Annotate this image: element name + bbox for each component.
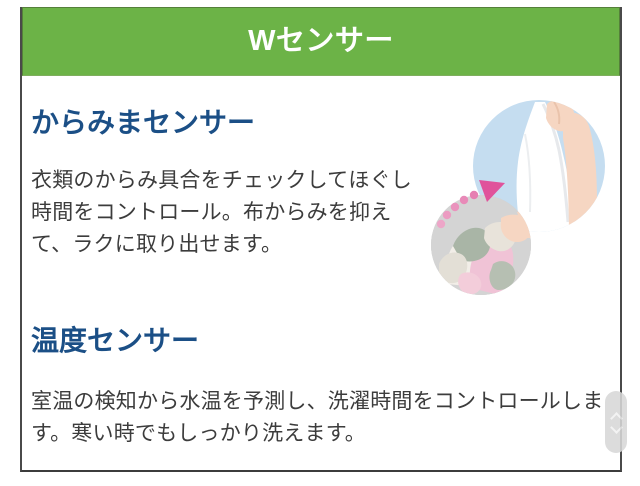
chevron-up-icon[interactable] (611, 413, 622, 420)
feature-card: Wセンサー からみまセンサー 衣類のからみ具合をチェックしてほぐし時間をコントロ… (20, 7, 622, 472)
page-title: Wセンサー (248, 27, 394, 56)
section-heading-ondo: 温度センサー (31, 326, 199, 357)
section-body-karamima: 衣類のからみ具合をチェックしてほぐし時間をコントロール。布からみを抑えて、ラクに… (31, 165, 427, 261)
card-content: からみまセンサー 衣類のからみ具合をチェックしてほぐし時間をコントロール。布から… (22, 76, 620, 470)
chevron-down-icon[interactable] (611, 424, 622, 431)
banner-header: Wセンサー (22, 7, 620, 76)
section-body-ondo: 室温の検知から水温を予測し、洗濯時間をコントロールします。寒い時でもしっかり洗え… (31, 386, 606, 450)
scroll-control[interactable] (605, 391, 627, 453)
laundry-untangle-photo (417, 88, 622, 303)
section-heading-karamima: からみまセンサー (31, 108, 255, 139)
